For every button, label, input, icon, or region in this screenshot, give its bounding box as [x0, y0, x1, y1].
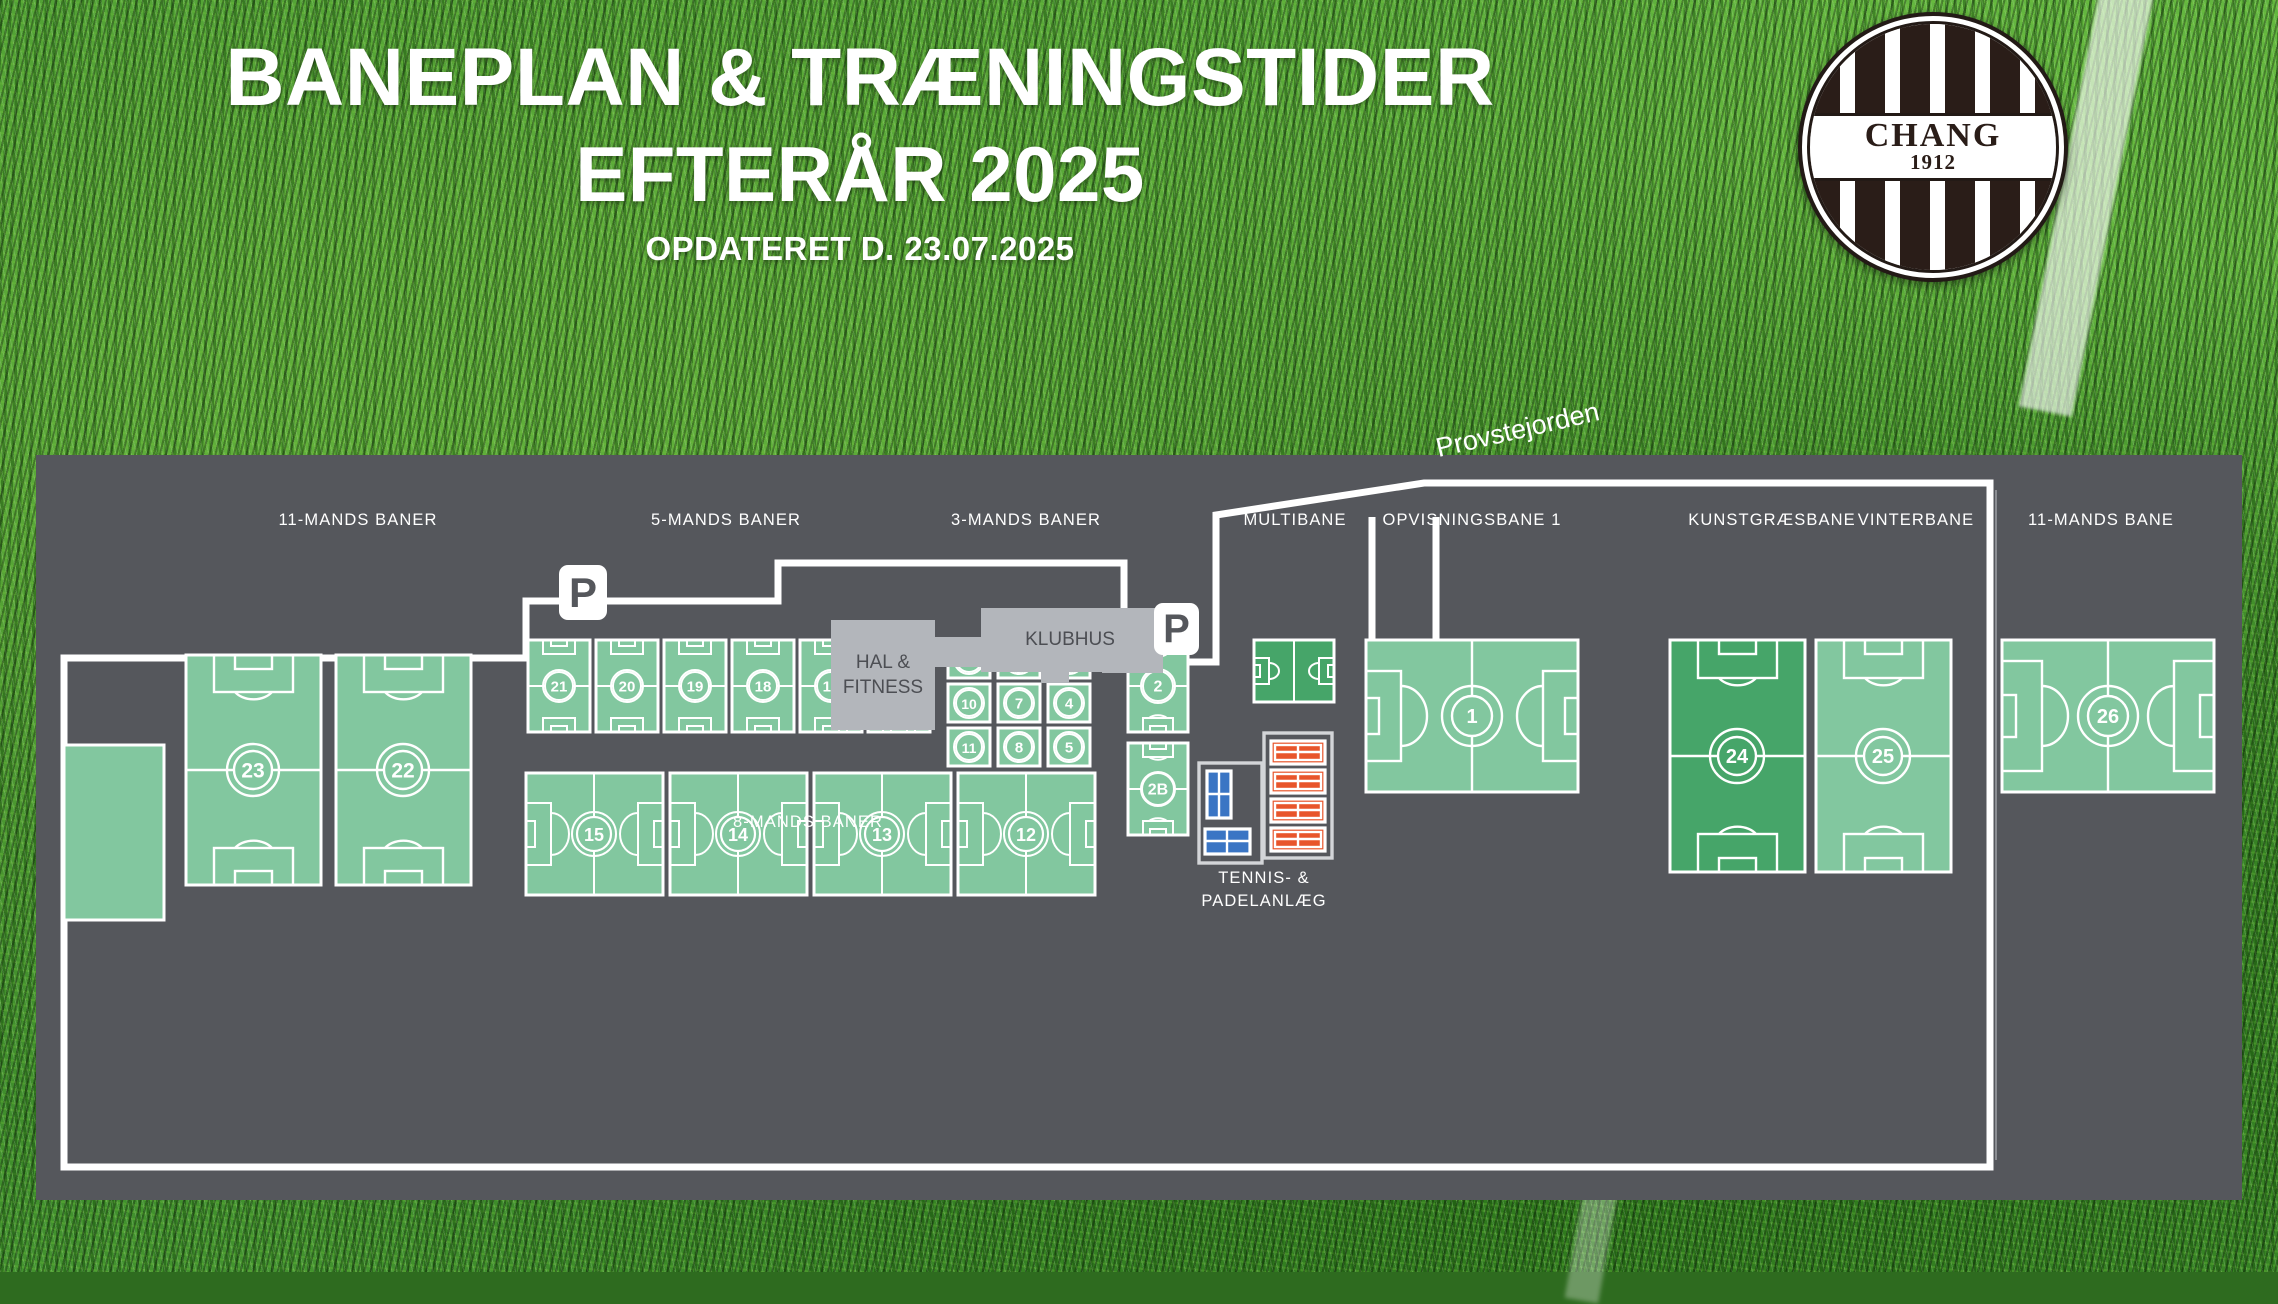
pitch-1: 1 — [1366, 640, 1578, 792]
area-label-vinterbane: VINTERBANE — [1858, 511, 1974, 530]
pitch-number-5: 5 — [1065, 740, 1073, 757]
crest-founded-year: 1912 — [1910, 151, 1956, 173]
area-label-3-mands-baner: 3-MANDS BANER — [951, 511, 1101, 530]
pitch-number-18: 18 — [755, 679, 772, 696]
pitch-20: 20 — [596, 640, 658, 732]
padel-enclosure — [1199, 763, 1262, 863]
parking-sign-letter-east: P — [1163, 607, 1190, 652]
area-label-multibane: MULTIBANE — [1243, 511, 1346, 530]
tennis-court-4 — [1271, 828, 1325, 851]
pitch-number-20: 20 — [619, 679, 636, 696]
pitch-number-2: 2 — [1154, 679, 1163, 696]
parking-sign-east: P — [1154, 603, 1199, 655]
pitch-8: 8 — [998, 728, 1040, 766]
crest-name-band: CHANG 1912 — [1810, 113, 2056, 181]
pitch-number-26: 26 — [2097, 706, 2119, 728]
padel-court-2 — [1205, 829, 1250, 854]
page-title-line-2: EFTERÅR 2025 — [0, 126, 1720, 222]
pitch-5: 5 — [1048, 728, 1090, 766]
area-label-11-mands-baner: 11-MANDS BANER — [278, 511, 437, 530]
parking-sign-letter-west: P — [569, 569, 597, 617]
tennis-court-2 — [1271, 770, 1325, 793]
pitch-23: 23 — [186, 655, 321, 885]
area-label-kunstgraesbane: KUNSTGRÆSBANE — [1688, 511, 1855, 530]
crest-inner: CHANG 1912 — [1807, 21, 2059, 273]
padel-court-1 — [1207, 771, 1231, 818]
facility-map: .g { fill:#82c79f; stroke:#ffffff; strok… — [36, 455, 2242, 1200]
pitch-number-22: 22 — [391, 760, 414, 783]
pitch-number-8: 8 — [1015, 740, 1023, 757]
pitch-10: 10 — [948, 684, 990, 722]
building-klubhus-label: KLUBHUS — [981, 627, 1159, 652]
multibane — [1254, 640, 1334, 702]
pitch-number-21: 21 — [551, 679, 568, 696]
area-label-tennis-padel-line1: TENNIS- & — [1218, 869, 1310, 888]
pitch-plain-left — [64, 745, 164, 920]
map-vector-layer: .g { fill:#82c79f; stroke:#ffffff; strok… — [36, 455, 2242, 1200]
pitch-25: 25 — [1816, 640, 1951, 872]
pitch-15: 15 — [526, 773, 663, 895]
pitch-4: 4 — [1048, 684, 1090, 722]
area-label-5-mands-baner: 5-MANDS BANER — [651, 511, 801, 530]
tennis-court-3 — [1271, 799, 1325, 822]
page-title-line-1: BANEPLAN & TRÆNINGSTIDER — [0, 0, 1720, 126]
pitch-number-2B: 2B — [1148, 782, 1168, 799]
pitch-number-12: 12 — [1016, 825, 1036, 845]
page-subtitle: OPDATERET D. 23.07.2025 — [0, 230, 1720, 268]
pitch-24: 24 — [1670, 640, 1805, 872]
pitch-7: 7 — [998, 684, 1040, 722]
pitch-22: 22 — [336, 655, 471, 885]
pitch-number-15: 15 — [584, 825, 604, 845]
pitch-13: 13 — [814, 773, 951, 895]
building-klubhus-wing-left — [935, 637, 981, 667]
area-label-11-mands-bane: 11-MANDS BANE — [2028, 511, 2174, 530]
pitch-2B: 2B — [1128, 743, 1188, 835]
building-klubhus-stub — [1041, 671, 1069, 683]
pitch-number-25: 25 — [1872, 746, 1894, 768]
area-label-8-mands-baner: 8-MANDS BANER — [733, 813, 883, 832]
pitch-18: 18 — [732, 640, 794, 732]
pitch-19: 19 — [664, 640, 726, 732]
tennis-court-1 — [1271, 741, 1325, 764]
pitch-14: 14 — [670, 773, 807, 895]
pitch-number-24: 24 — [1726, 746, 1749, 768]
pitch-number-23: 23 — [241, 760, 264, 783]
page-header: BANEPLAN & TRÆNINGSTIDER EFTERÅR 2025 OP… — [0, 0, 1720, 268]
crest-club-name: CHANG — [1865, 121, 2002, 151]
pitch-11: 11 — [948, 728, 990, 766]
pitch-number-7: 7 — [1015, 696, 1023, 713]
pitch-12: 12 — [958, 773, 1095, 895]
pitch-number-11: 11 — [962, 740, 977, 756]
pitch-26: 26 — [2002, 640, 2214, 792]
building-hal-fitness-label: HAL & FITNESS — [831, 650, 935, 700]
area-label-tennis-padel-line2: PADELANLÆG — [1201, 892, 1326, 911]
tennis-enclosure — [1264, 733, 1332, 858]
pitch-number-4: 4 — [1065, 696, 1074, 713]
parking-sign-west: P — [559, 565, 607, 620]
pitch-number-1: 1 — [1466, 706, 1477, 728]
pitch-number-10: 10 — [961, 696, 977, 712]
pitch-21: 21 — [528, 640, 590, 732]
area-label-opvisningsbane-1: OPVISNINGSBANE 1 — [1383, 511, 1562, 530]
pitch-number-19: 19 — [687, 679, 704, 696]
club-crest-logo: CHANG 1912 — [1798, 12, 2068, 282]
